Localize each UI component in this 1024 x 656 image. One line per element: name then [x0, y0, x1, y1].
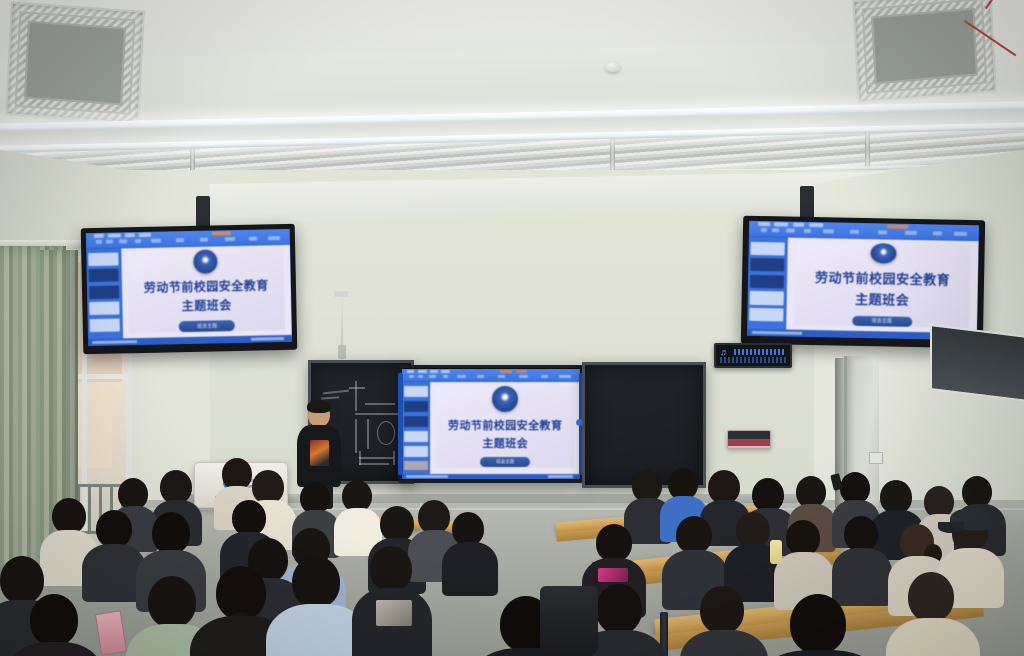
right-upper-window — [930, 324, 1024, 402]
university-emblem-icon — [870, 243, 896, 264]
left-tv-screen[interactable]: 劳动节前校园安全教育 主题班会 班会主题 — [86, 229, 292, 346]
slide-button[interactable]: 班会主题 — [852, 316, 912, 326]
ceiling-air-vent-right — [852, 0, 996, 104]
slide-title-line1: 劳动节前校园安全教育 — [815, 267, 951, 289]
university-emblem-icon — [194, 250, 218, 274]
ceiling-air-vent-left — [5, 2, 145, 125]
slide-title-line1: 劳动节前校园安全教育 — [448, 417, 562, 433]
water-bottle — [770, 540, 782, 564]
music-note-icon: ♬ — [720, 347, 729, 357]
cap-brim — [938, 522, 964, 533]
right-tv-ppt: 劳动节前校园安全教育 主题班会 班会主题 — [747, 221, 979, 340]
iwb-ppt: 劳动节前校园安全教育 主题班会 班会主题 — [402, 369, 580, 479]
fire-equipment-box[interactable] — [727, 430, 771, 449]
led-scrolling-sign: ♬ — [714, 343, 792, 368]
classroom-photo: 劳动节前校园安全教育 主题班会 班会主题 — [0, 0, 1024, 656]
slide-title-line2: 主题班会 — [182, 296, 232, 314]
slide-title-line2: 主题班会 — [855, 289, 909, 309]
left-tv-ppt: 劳动节前校园安全教育 主题班会 班会主题 — [86, 229, 292, 346]
right-tv-slide: 劳动节前校园安全教育 主题班会 班会主题 — [794, 241, 971, 327]
door-sign-plate — [869, 452, 883, 464]
iwb-slide-panel — [402, 382, 430, 473]
slide-title-line2: 主题班会 — [482, 435, 528, 451]
slide-button[interactable]: 班会主题 — [480, 457, 530, 467]
university-emblem-icon — [492, 386, 518, 412]
slide-button[interactable]: 班会主题 — [179, 320, 235, 332]
shirt-graphic — [376, 600, 412, 626]
right-tv-screen[interactable]: 劳动节前校园安全教育 主题班会 班会主题 — [747, 221, 979, 340]
iwb-left-edge — [398, 373, 403, 475]
left-ceiling-tv[interactable]: 劳动节前校园安全教育 主题班会 班会主题 — [81, 224, 298, 354]
projector-pull-cord[interactable] — [341, 296, 343, 348]
left-tv-slide: 劳动节前校园安全教育 主题班会 班会主题 — [128, 248, 285, 333]
left-tv-slide-panel — [86, 248, 123, 339]
right-tv-slide-panel — [747, 237, 788, 330]
iwb-slide: 劳动节前校园安全教育 主题班会 班会主题 — [436, 386, 574, 468]
presenter-hair — [307, 400, 331, 413]
front-interactive-whiteboard[interactable]: 劳动节前校园安全教育 主题班会 班会主题 — [398, 365, 584, 483]
slide-title-line1: 劳动节前校园安全教育 — [144, 276, 269, 296]
backpack — [540, 586, 598, 656]
pull-cord-handle[interactable] — [338, 345, 346, 359]
presenter-shirt-graphic — [310, 440, 329, 466]
iwb-screen[interactable]: 劳动节前校园安全教育 主题班会 班会主题 — [402, 369, 580, 479]
pull-cord-anchor — [334, 291, 348, 297]
shirt-graphic — [598, 568, 628, 582]
smoke-detector — [605, 62, 621, 72]
